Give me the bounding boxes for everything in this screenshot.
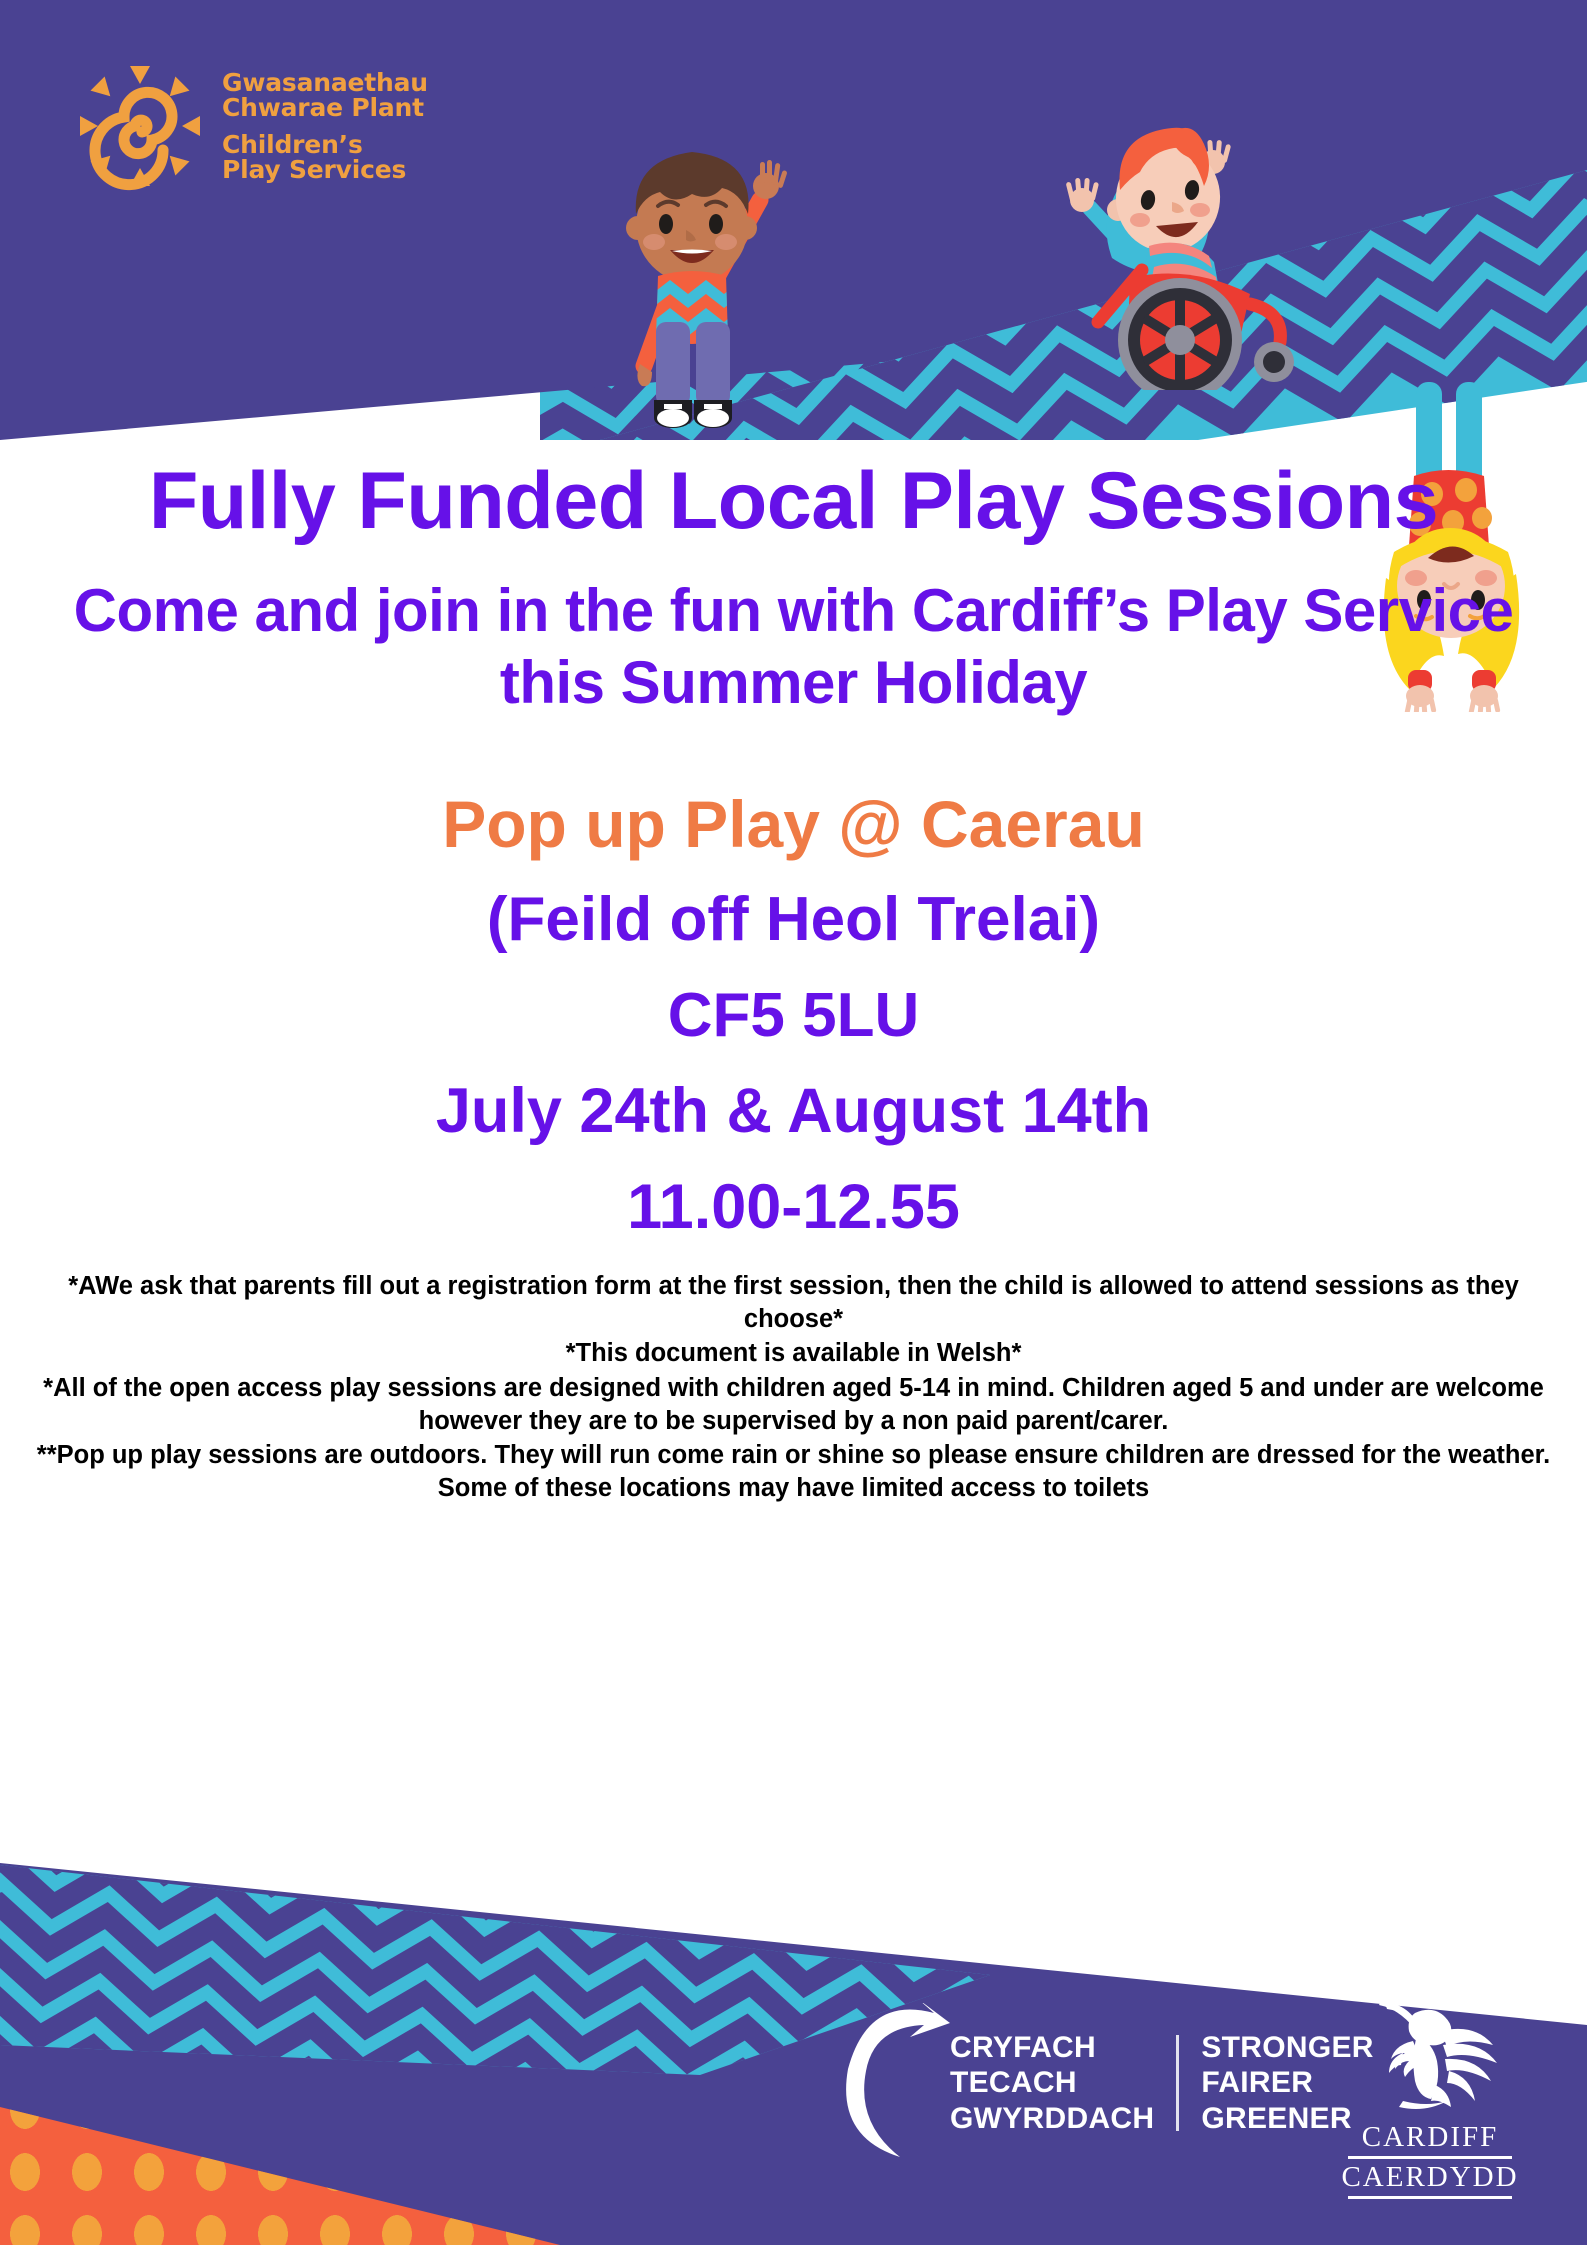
event-name: Pop up Play @ Caerau	[0, 785, 1587, 864]
event-time: 11.00-12.55	[0, 1167, 1587, 1248]
logo-line-english-2: Play Services	[222, 157, 428, 182]
poster-content: Fully Funded Local Play Sessions Come an…	[0, 455, 1587, 1506]
slogan-welsh: CRYFACH TECACH GWYRDDACH	[950, 2030, 1154, 2136]
wheelchair-child-illustration	[1020, 90, 1310, 390]
event-dates: July 24th & August 14th	[0, 1071, 1587, 1152]
stronger-fairer-greener-logo: CRYFACH TECACH GWYRDDACH STRONGER FAIRER…	[838, 2003, 1374, 2163]
slogan-welsh-3: GWYRDDACH	[950, 2101, 1154, 2136]
small-print-line-3: *All of the open access play sessions ar…	[28, 1372, 1559, 1438]
small-print-line-4: **Pop up play sessions are outdoors. The…	[28, 1439, 1559, 1505]
council-rule-1	[1348, 2156, 1512, 2159]
stronger-fairer-greener-wordmark: CRYFACH TECACH GWYRDDACH STRONGER FAIRER…	[950, 2030, 1374, 2136]
logo-line-welsh-2: Chwarae Plant	[222, 95, 428, 120]
council-rule-2	[1348, 2196, 1512, 2199]
play-services-logo: Gwasanaethau Chwarae Plant Children’s Pl…	[72, 58, 428, 194]
slogan-divider	[1176, 2035, 1179, 2131]
logo-line-english-1: Children’s	[222, 132, 428, 157]
council-name-en: CARDIFF	[1340, 2123, 1520, 2152]
waving-boy-illustration	[600, 118, 800, 428]
event-postcode: CF5 5LU	[0, 976, 1587, 1055]
council-name-cy: CAERDYDD	[1340, 2163, 1520, 2192]
slogan-welsh-2: TECACH	[950, 2065, 1154, 2100]
poster-root: Gwasanaethau Chwarae Plant Children’s Pl…	[0, 0, 1587, 2245]
small-print-block: *AWe ask that parents fill out a registr…	[28, 1270, 1559, 1505]
logo-line-welsh-1: Gwasanaethau	[222, 70, 428, 95]
footer-logos: CRYFACH TECACH GWYRDDACH STRONGER FAIRER…	[0, 1989, 1587, 2199]
logo-wordmark: Gwasanaethau Chwarae Plant Children’s Pl…	[222, 70, 428, 182]
slogan-welsh-1: CRYFACH	[950, 2030, 1154, 2065]
event-location: (Feild off Heol Trelai)	[0, 880, 1587, 959]
sun-spiral-icon	[72, 58, 208, 194]
dragon-crest-icon	[1355, 1989, 1505, 2121]
cardiff-council-logo: CARDIFF CAERDYDD	[1340, 1989, 1520, 2203]
small-print-line-1: *AWe ask that parents fill out a registr…	[28, 1270, 1559, 1336]
small-print-line-2: *This document is available in Welsh*	[28, 1337, 1559, 1370]
page-title: Fully Funded Local Play Sessions	[90, 455, 1497, 549]
swoosh-arrow-icon	[838, 2003, 956, 2163]
page-subtitle: Come and join in the fun with Cardiff’s …	[30, 575, 1557, 719]
